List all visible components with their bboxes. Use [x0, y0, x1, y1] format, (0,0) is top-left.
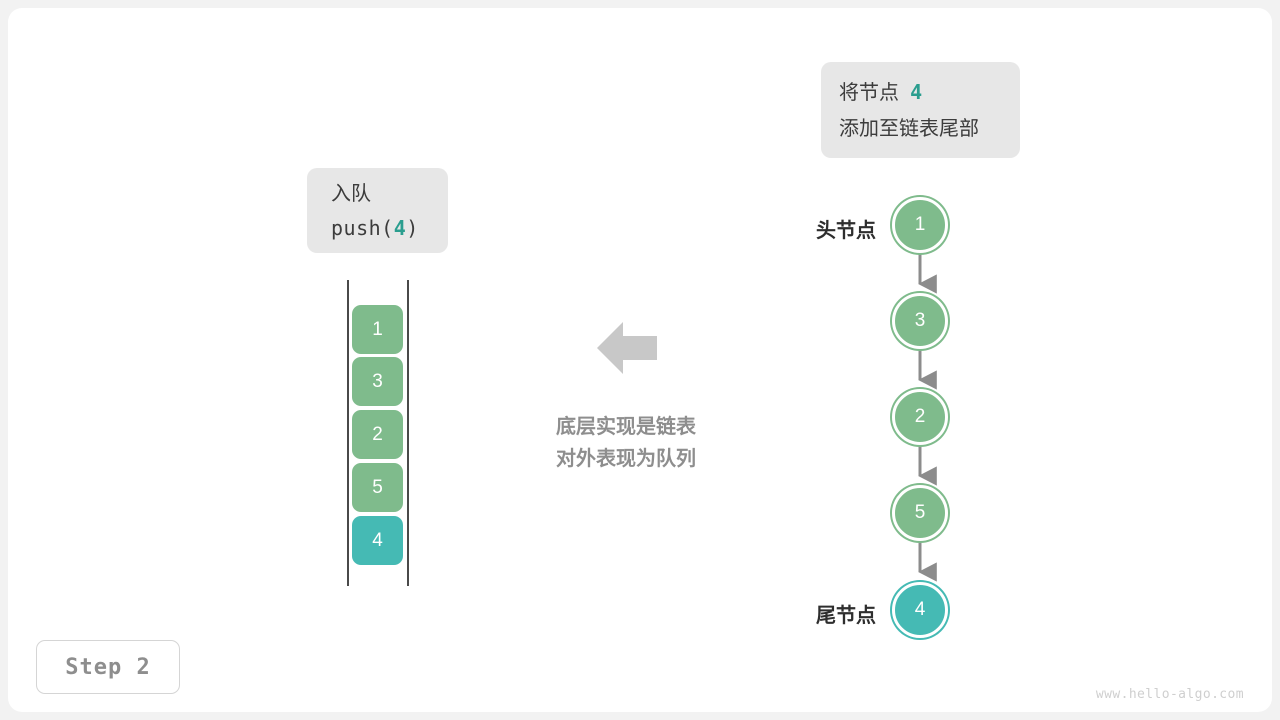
tail-node-label: 尾节点 — [780, 599, 876, 628]
head-node-label: 头节点 — [780, 214, 876, 243]
linked-list-node: 5 — [892, 485, 948, 541]
linked-list-node: 1 — [892, 197, 948, 253]
middle-caption: 底层实现是链表 对外表现为队列 — [530, 411, 722, 476]
queue-rail-left — [347, 280, 349, 586]
push-callout: 入队 push(4) — [307, 168, 448, 253]
queue-box-value: 1 — [372, 319, 383, 341]
linked-list-node-value: 5 — [915, 502, 926, 524]
diagram-canvas: 入队 push(4) 将节点 4 添加至链表尾部 1 3 2 5 4 底层实现是… — [0, 0, 1280, 720]
queue-box-new: 4 — [352, 516, 403, 565]
middle-caption-line1: 底层实现是链表 — [530, 411, 722, 443]
queue-box-value: 3 — [372, 371, 383, 393]
linked-list-node-new: 4 — [892, 582, 948, 638]
step-badge: Step 2 — [36, 640, 180, 694]
linked-list-node-value: 3 — [915, 310, 926, 332]
node-callout-line1-value: 4 — [910, 80, 922, 104]
linked-list-node-value: 1 — [915, 214, 926, 236]
push-callout-line1: 入队 — [331, 179, 448, 209]
node-callout-line1: 将节点 4 — [839, 77, 1020, 108]
queue-box: 1 — [352, 305, 403, 354]
arrow-left-icon — [595, 318, 659, 383]
linked-list-node-value: 4 — [915, 599, 926, 621]
linked-list-node-value: 2 — [915, 406, 926, 428]
queue-rail-right — [407, 280, 409, 586]
push-code-prefix: push( — [331, 216, 394, 240]
linked-list-connectors — [780, 190, 980, 630]
linked-list-node: 2 — [892, 389, 948, 445]
node-callout-line2: 添加至链表尾部 — [839, 114, 1020, 144]
queue-box-value: 2 — [372, 424, 383, 446]
node-callout-line1-prefix: 将节点 — [839, 82, 899, 104]
node-callout: 将节点 4 添加至链表尾部 — [821, 62, 1020, 158]
linked-list-node: 3 — [892, 293, 948, 349]
push-code-suffix: ) — [406, 216, 419, 240]
queue-box-value: 4 — [372, 530, 383, 552]
queue-box: 3 — [352, 357, 403, 406]
push-code-value: 4 — [394, 216, 407, 240]
middle-caption-line2: 对外表现为队列 — [530, 443, 722, 475]
queue-box: 5 — [352, 463, 403, 512]
queue-box-value: 5 — [372, 477, 383, 499]
queue-box: 2 — [352, 410, 403, 459]
watermark: www.hello-algo.com — [1096, 687, 1244, 702]
push-callout-code: push(4) — [331, 213, 448, 243]
